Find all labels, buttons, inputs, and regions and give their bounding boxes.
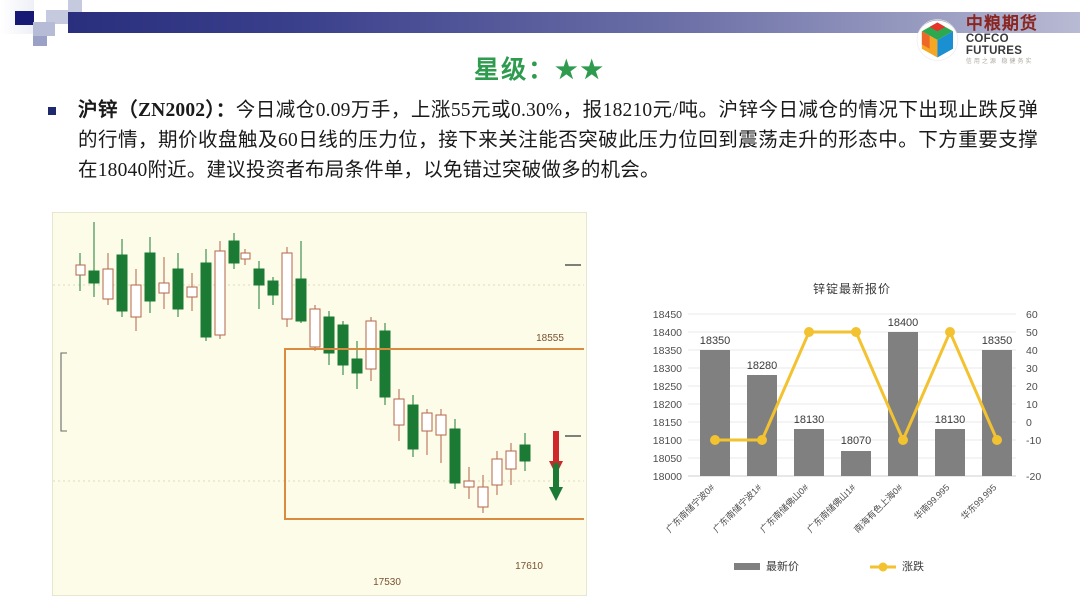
- consolidation-box: [285, 349, 584, 519]
- bar-value-label: 18280: [747, 360, 778, 372]
- x-tick: 华东99.995: [958, 482, 998, 522]
- zinc-quote-chart-panel: 锌锭最新报价 18450 18400 18350 18300 18250 182…: [630, 278, 1074, 590]
- bar-item: [888, 332, 918, 476]
- candle-series: [76, 222, 530, 513]
- y2-tick: -20: [1026, 471, 1041, 483]
- left-axis-labels: 18450 18400 18350 18300 18250 18200 1815…: [653, 309, 682, 483]
- y2-tick: 60: [1026, 309, 1038, 321]
- legend-marker: [879, 563, 888, 572]
- star-rating-stars: ★★: [555, 56, 606, 84]
- line-marker: [992, 435, 1002, 445]
- decor-square: [68, 0, 82, 12]
- line-marker: [757, 435, 767, 445]
- line-marker: [851, 327, 861, 337]
- chart-title: 锌锭最新报价: [630, 280, 1074, 297]
- y-tick: 18200: [653, 399, 682, 411]
- bar-item: [841, 451, 871, 476]
- down-arrow-icon: [549, 463, 563, 501]
- legend-label-change: 涨跌: [902, 559, 924, 573]
- x-tick: 南海有色上海0#: [851, 482, 904, 535]
- y2-tick: 40: [1026, 345, 1038, 357]
- zinc-quote-chart: 18450 18400 18350 18300 18250 18200 1815…: [630, 296, 1074, 588]
- logo-chinese-name: 中粮期货: [966, 15, 1066, 32]
- commentary-block: 沪锌（ZN2002）：今日减仓0.09万手，上涨55元或0.30%，报18210…: [48, 96, 1038, 186]
- bar-value-label: 18130: [794, 414, 825, 426]
- y-tick: 18150: [653, 417, 682, 429]
- y-tick: 18450: [653, 309, 682, 321]
- y2-tick: 10: [1026, 399, 1038, 411]
- y2-tick: 0: [1026, 417, 1032, 429]
- bar-item: [935, 429, 965, 476]
- legend-label-price: 最新价: [766, 559, 799, 573]
- y-tick: 18350: [653, 345, 682, 357]
- bar-item: [700, 350, 730, 476]
- bar-value-label: 18070: [841, 435, 872, 447]
- y-tick: 18100: [653, 435, 682, 447]
- y-tick: 18000: [653, 471, 682, 483]
- x-tick: 广东南储佛山0#: [757, 482, 810, 535]
- y-tick: 18050: [653, 453, 682, 465]
- y2-tick: 20: [1026, 381, 1038, 393]
- star-rating-label: 星级：: [474, 56, 555, 84]
- bar-value-label: 18400: [888, 317, 919, 329]
- commentary-paragraph: 沪锌（ZN2002）：今日减仓0.09万手，上涨55元或0.30%，报18210…: [78, 96, 1038, 186]
- candlestick-chart-panel: 18555 17530 17610: [52, 212, 587, 596]
- x-tick: 广东南储宁波1#: [710, 482, 763, 535]
- bar-value-label: 18130: [935, 414, 966, 426]
- bullet-marker-icon: [48, 107, 56, 115]
- line-marker: [710, 435, 720, 445]
- star-rating-title: 星级：★★: [0, 50, 1080, 86]
- bar-value-label: 18350: [700, 335, 731, 347]
- chart-legend: 最新价 涨跌: [734, 559, 924, 573]
- candle-high-label: 18555: [536, 333, 564, 344]
- x-tick: 华南99.995: [911, 482, 951, 522]
- instrument-name: 沪锌（ZN2002）：: [78, 100, 236, 121]
- y2-tick: 50: [1026, 327, 1038, 339]
- x-tick: 广东南储宁波0#: [663, 482, 716, 535]
- y-tick: 18250: [653, 381, 682, 393]
- line-marker: [945, 327, 955, 337]
- line-marker: [804, 327, 814, 337]
- candle-low-label: 17530: [373, 577, 401, 588]
- bar-value-label: 18350: [982, 335, 1013, 347]
- decor-square: [33, 36, 47, 46]
- bar-item: [794, 429, 824, 476]
- category-labels: 广东南储宁波0# 广东南储宁波1# 广东南储佛山0# 广东南储佛山1# 南海有色…: [663, 482, 998, 535]
- bar-item: [747, 375, 777, 476]
- line-marker: [898, 435, 908, 445]
- legend-swatch-bar: [734, 563, 760, 570]
- y2-tick: -10: [1026, 435, 1041, 447]
- candlestick-chart: 18555 17530 17610: [53, 213, 584, 593]
- scale-bracket: [61, 353, 67, 431]
- y2-tick: 30: [1026, 363, 1038, 375]
- right-axis-labels: 60 50 40 30 20 10 0 -10 -20: [1026, 309, 1041, 483]
- candle-range-low-label: 17610: [515, 561, 543, 572]
- decor-square: [15, 11, 35, 25]
- y-tick: 18300: [653, 363, 682, 375]
- y-tick: 18400: [653, 327, 682, 339]
- decor-square: [33, 22, 55, 36]
- x-tick: 广东南储佛山1#: [804, 482, 857, 535]
